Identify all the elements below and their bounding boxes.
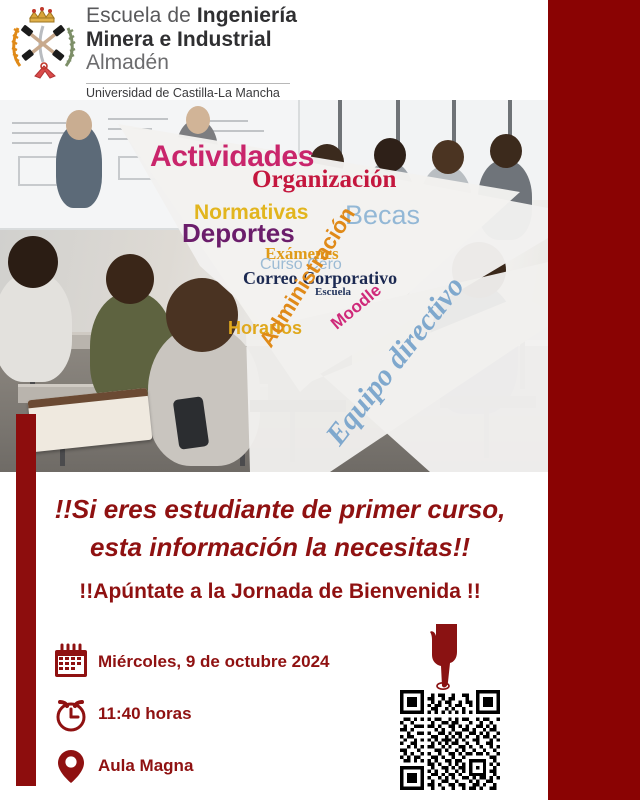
event-time-row: 11:40 horas (44, 688, 404, 740)
school-line-3: Almadén (86, 51, 386, 75)
headline-line-2: esta información la necesitas!! (6, 532, 554, 563)
qr-code[interactable] (400, 690, 500, 790)
event-time-text: 11:40 horas (98, 704, 192, 724)
school-line-1: Escuela de Ingeniería (86, 4, 386, 28)
event-details: Miércoles, 9 de octubre 2024 11:40 horas (44, 636, 404, 792)
calendar-icon (44, 642, 98, 682)
university-name: Universidad de Castilla-La Mancha (86, 86, 280, 100)
event-date-row: Miércoles, 9 de octubre 2024 (44, 636, 404, 688)
left-accent-bar (16, 414, 36, 786)
cloud-word-escuela: Escuela (315, 286, 351, 298)
pointing-hand-down-icon (424, 622, 468, 694)
word-cloud: Actividades Organización Normativas Depo… (0, 96, 548, 472)
header: Escuela de Ingeniería Minera e Industria… (0, 0, 548, 100)
location-pin-icon (44, 746, 98, 786)
event-place-row: Aula Magna (44, 740, 404, 792)
headline-line-3: !!Apúntate a la Jornada de Bienvenida !! (6, 580, 554, 604)
headline-line-1: !!Si eres estudiante de primer curso, (6, 494, 554, 525)
event-date-text: Miércoles, 9 de octubre 2024 (98, 652, 330, 672)
school-line-2: Minera e Industrial (86, 28, 386, 52)
right-accent-bar (548, 0, 640, 800)
escudo-mineria-icon (6, 4, 82, 88)
poster: Actividades Organización Normativas Depo… (0, 0, 640, 800)
school-name: Escuela de Ingeniería Minera e Industria… (86, 4, 386, 75)
header-divider (86, 83, 290, 84)
school-line-1-plain: Escuela de (86, 4, 197, 27)
school-line-1-bold: Ingeniería (197, 4, 297, 27)
cloud-word-organizacion: Organización (252, 166, 396, 194)
event-place-text: Aula Magna (98, 756, 193, 776)
alarm-clock-icon (44, 694, 98, 734)
